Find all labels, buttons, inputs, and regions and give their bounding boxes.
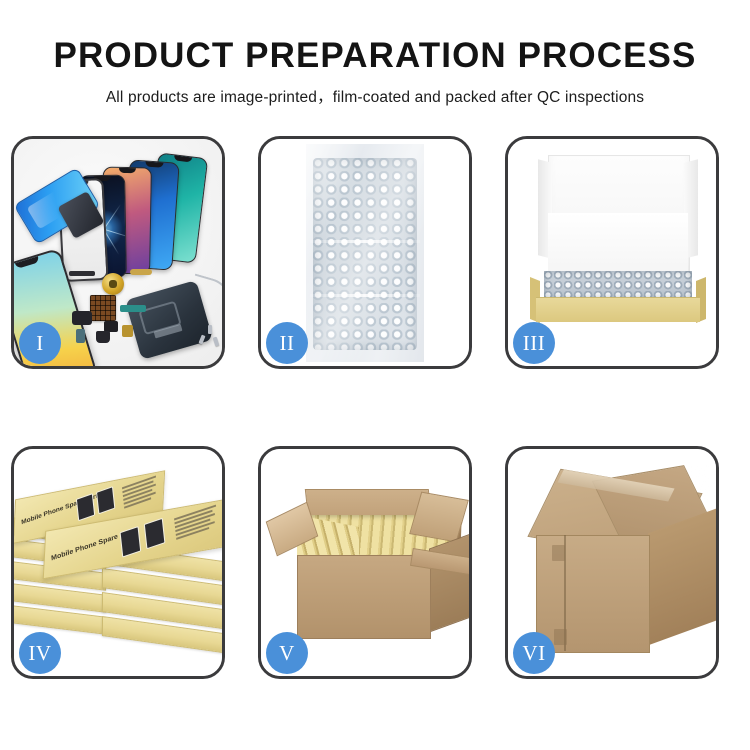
- volume-flex-part: [72, 311, 92, 325]
- page-title: PRODUCT PREPARATION PROCESS: [0, 0, 750, 76]
- step-2-image: II: [261, 139, 469, 366]
- box-lid-phone-graphic: [76, 493, 95, 521]
- kraft-box-front: [536, 297, 700, 322]
- box-lid-phone-graphic: [120, 526, 142, 558]
- connector-board-part: [90, 295, 116, 321]
- step-badge-2: II: [266, 322, 308, 364]
- step-3-image: III: [508, 139, 716, 366]
- carton-flap-notch-bottom: [554, 629, 567, 645]
- foam-padding: [548, 213, 688, 273]
- loudspeaker-part: [96, 331, 110, 343]
- step-1-image: I: [14, 139, 222, 366]
- step-5-image: V: [261, 449, 469, 676]
- step-badge-5: V: [266, 632, 308, 674]
- step-badge-1: I: [19, 322, 61, 364]
- earpiece-speaker-part: [69, 271, 95, 276]
- box-lid-text-lines: [122, 475, 158, 511]
- screw-part: [208, 325, 212, 334]
- step-4-image: Mobile Phone Spare Parts Mobile Phone Sp…: [14, 449, 222, 676]
- sim-tray-part: [76, 329, 85, 343]
- carton-front-face: [297, 555, 431, 639]
- step-badge-3: III: [513, 322, 555, 364]
- process-step-panel-3[interactable]: III: [505, 136, 719, 369]
- page-header: PRODUCT PREPARATION PROCESS All products…: [0, 0, 750, 107]
- bubble-wrap-illustration: [306, 144, 424, 362]
- step-6-image: VI: [508, 449, 716, 676]
- carton-right-side: [648, 509, 716, 646]
- process-step-panel-5[interactable]: V: [258, 446, 472, 679]
- carton-flap-notch-top: [552, 545, 565, 561]
- step-badge-4: IV: [19, 632, 61, 674]
- battery-connector-part: [122, 325, 133, 337]
- process-step-panel-4[interactable]: Mobile Phone Spare Parts Mobile Phone Sp…: [11, 446, 225, 679]
- process-step-panel-6[interactable]: VI: [505, 446, 719, 679]
- bubble-wrapped-contents: [544, 271, 692, 299]
- page-subtitle: All products are image-printed，film-coat…: [0, 76, 750, 107]
- carton-right-side: [429, 533, 469, 632]
- box-lid-text-lines: [174, 505, 218, 543]
- process-step-panel-1[interactable]: I: [11, 136, 225, 369]
- box-lid-phone-graphic: [96, 486, 115, 514]
- vibration-motor-part: [102, 273, 124, 295]
- charging-port-flex-part: [120, 305, 146, 312]
- step-badge-6: VI: [513, 632, 555, 674]
- power-flex-cable-part: [130, 269, 152, 275]
- process-step-grid: I II III: [11, 136, 739, 679]
- box-lid-phone-graphic: [144, 518, 166, 550]
- process-step-panel-2[interactable]: II: [258, 136, 472, 369]
